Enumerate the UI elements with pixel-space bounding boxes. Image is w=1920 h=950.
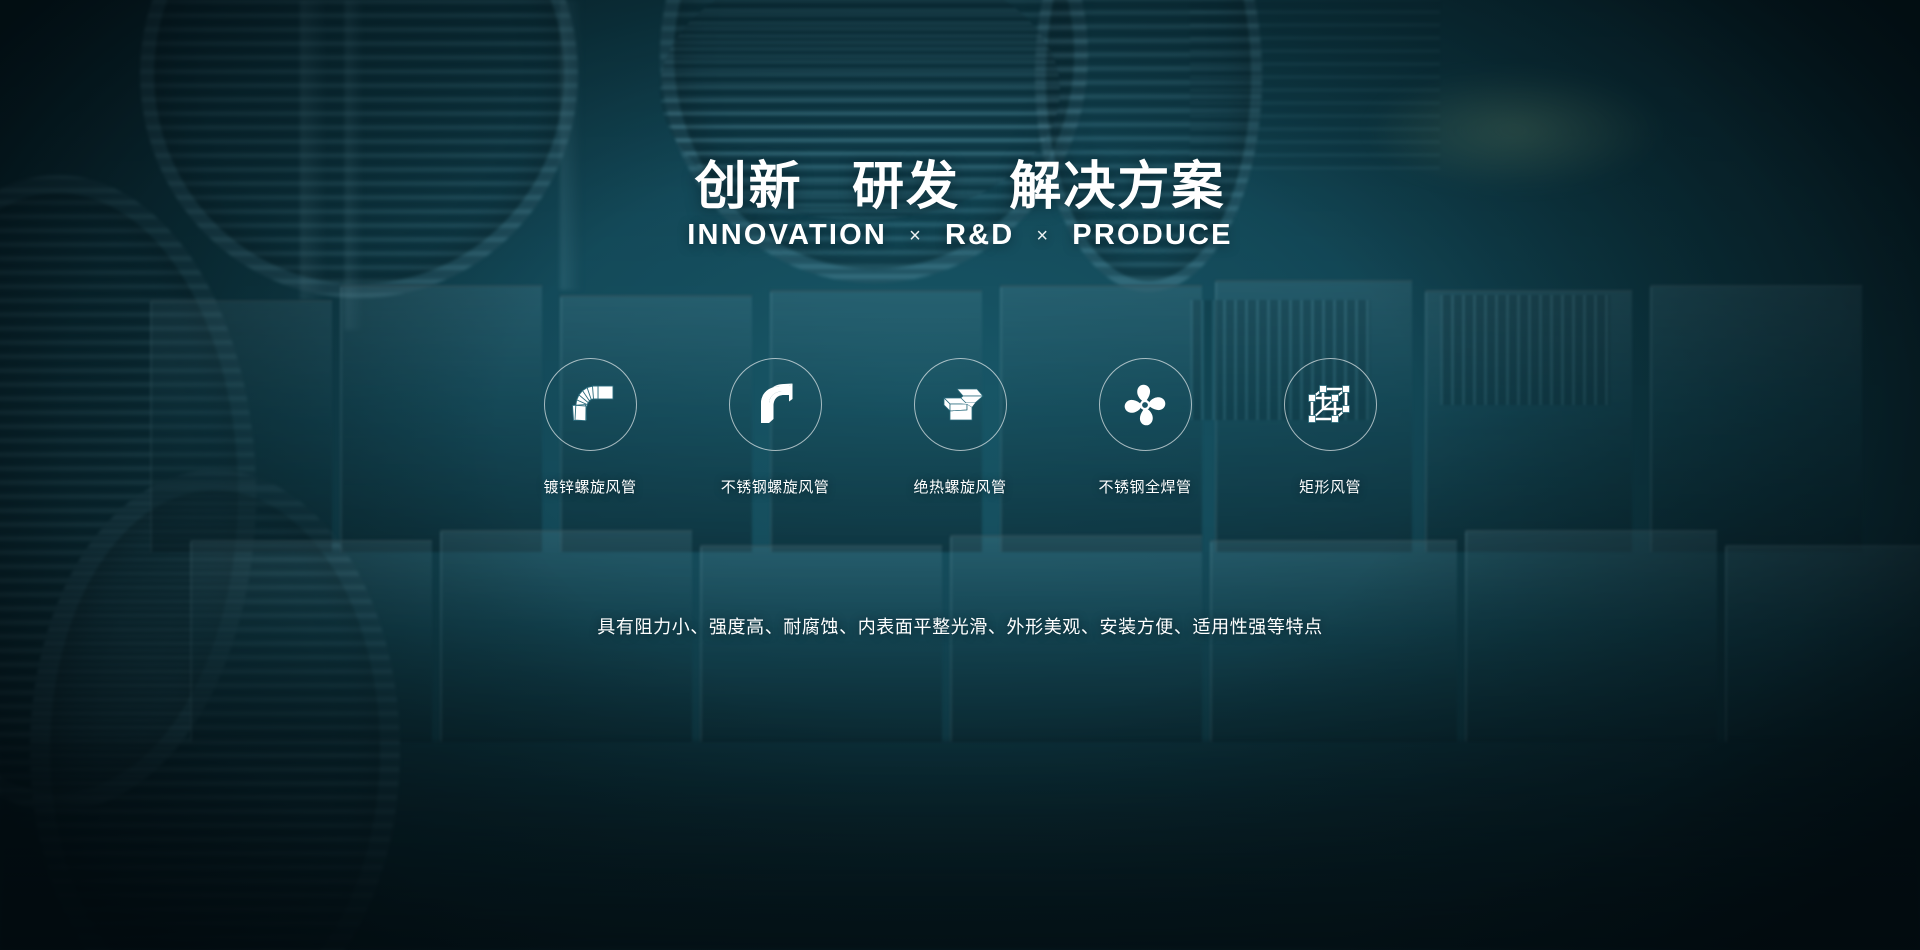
product-label: 不锈钢全焊管 bbox=[1098, 476, 1191, 497]
multiply-icon: × bbox=[1036, 225, 1050, 248]
product-item-galvanized-spiral-duct[interactable]: 镀锌螺旋风管 bbox=[543, 358, 638, 497]
icon-circle[interactable] bbox=[914, 358, 1007, 451]
headline-english: INNOVATION × R&D × PRODUCE bbox=[0, 219, 1920, 252]
banner-content: 创新 研发 解决方案 INNOVATION × R&D × PRODUCE bbox=[0, 0, 1920, 950]
product-label: 绝热螺旋风管 bbox=[913, 476, 1006, 497]
fan-blade-icon bbox=[1117, 377, 1173, 433]
icon-circle[interactable] bbox=[1099, 358, 1192, 451]
headline-en-part-rd: R&D bbox=[945, 219, 1014, 252]
product-item-insulated-spiral-duct[interactable]: 绝热螺旋风管 bbox=[913, 358, 1008, 497]
icon-circle[interactable] bbox=[1284, 358, 1377, 451]
product-item-stainless-welded-pipe[interactable]: 不锈钢全焊管 bbox=[1098, 358, 1193, 497]
product-label: 镀锌螺旋风管 bbox=[543, 476, 636, 497]
curved-elbow-duct-icon bbox=[748, 378, 802, 432]
hero-banner: 创新 研发 解决方案 INNOVATION × R&D × PRODUCE bbox=[0, 0, 1920, 950]
product-label: 不锈钢螺旋风管 bbox=[721, 476, 830, 497]
headline-chinese: 创新 研发 解决方案 bbox=[0, 144, 1920, 219]
product-item-rectangular-duct[interactable]: 矩形风管 bbox=[1283, 358, 1378, 497]
rectangular-duct-icon bbox=[1301, 376, 1359, 434]
product-icon-list: 镀锌螺旋风管 不锈钢螺旋风管 bbox=[0, 358, 1920, 497]
icon-circle[interactable] bbox=[544, 358, 637, 451]
product-item-stainless-spiral-duct[interactable]: 不锈钢螺旋风管 bbox=[728, 358, 823, 497]
banner-tagline: 具有阻力小、强度高、耐腐蚀、内表面平整光滑、外形美观、安装方便、适用性强等特点 bbox=[0, 613, 1920, 639]
insulated-duct-icon bbox=[931, 376, 989, 434]
product-label: 矩形风管 bbox=[1299, 476, 1361, 497]
multiply-icon: × bbox=[909, 225, 923, 248]
headline-en-part-produce: PRODUCE bbox=[1072, 219, 1232, 252]
segmented-elbow-duct-icon bbox=[562, 377, 618, 433]
headline-en-part-innovation: INNOVATION bbox=[687, 219, 887, 252]
icon-circle[interactable] bbox=[729, 358, 822, 451]
